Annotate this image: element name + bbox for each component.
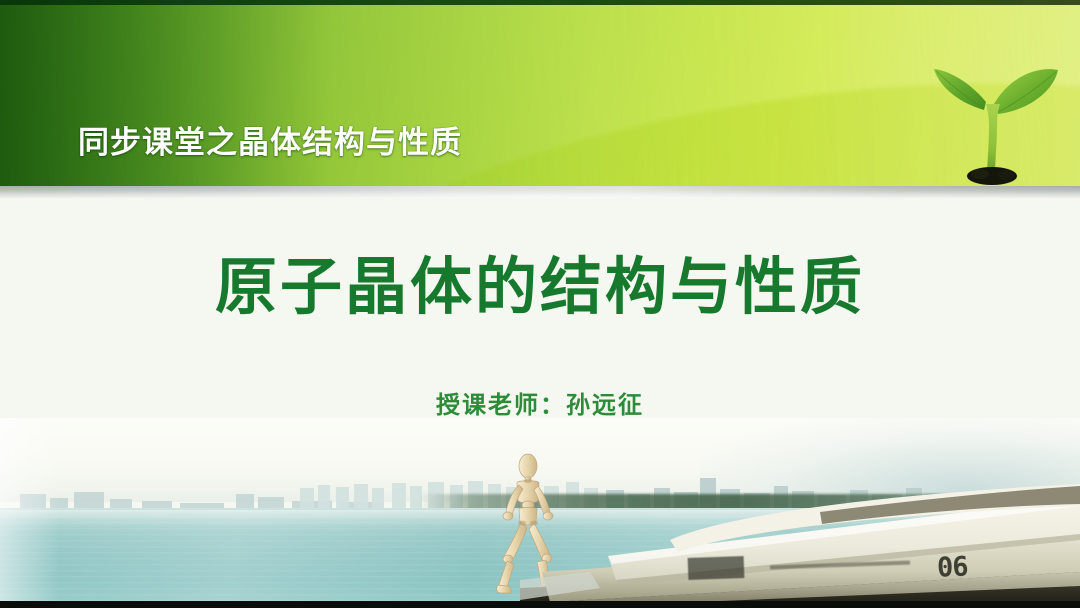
slide-subtitle-instructor: 授课老师：孙远征	[0, 385, 1080, 420]
presentation-slide: 同步课堂之晶体结构与性质 原子晶体的结构与性质 授课老师：孙远征	[0, 0, 1080, 608]
banner-top-edge-strip	[0, 0, 1080, 5]
slide-main-title: 原子晶体的结构与性质	[0, 236, 1080, 326]
book-publisher-logo	[688, 556, 745, 580]
slide-banner: 同步课堂之晶体结构与性质	[0, 0, 1080, 186]
stacked-books-icon	[520, 476, 1080, 608]
sprout-icon	[918, 52, 1068, 186]
banner-divider-gloss	[0, 186, 1080, 198]
book-spine-number: 06	[936, 551, 968, 583]
banner-heading: 同步课堂之晶体结构与性质	[78, 117, 462, 162]
slide-bottom-edge-bar	[0, 601, 1080, 608]
